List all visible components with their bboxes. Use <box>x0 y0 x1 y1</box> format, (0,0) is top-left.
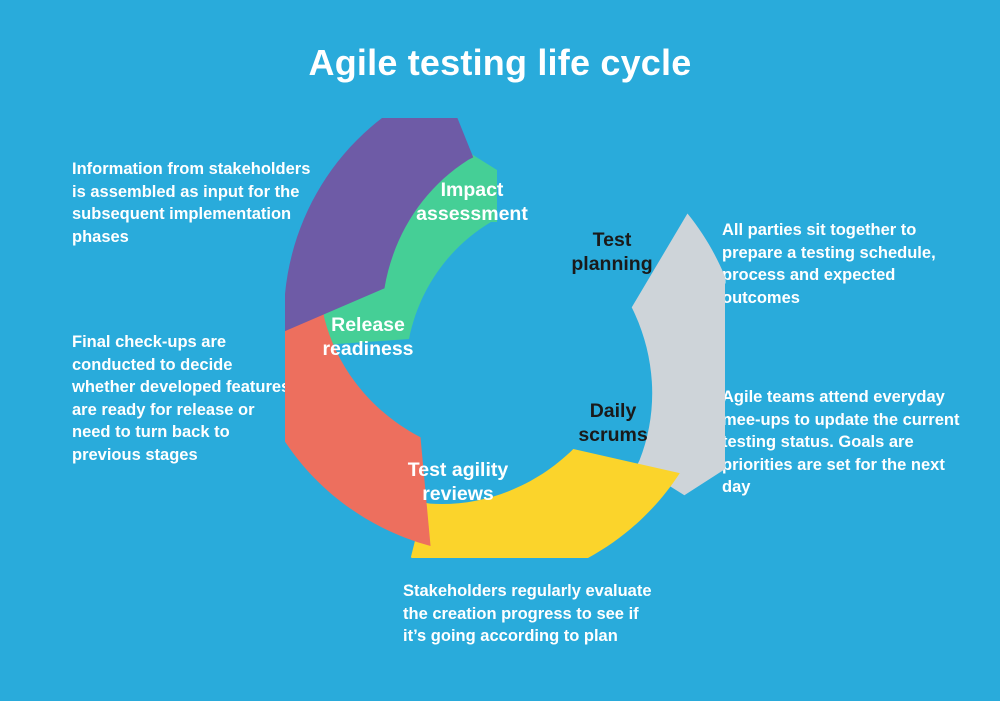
cycle-diagram: Impact assessment Test planning Daily sc… <box>285 118 725 558</box>
description-daily-scrums: Agile teams attend everyday mee-ups to u… <box>722 386 972 499</box>
description-impact-assessment: Information from stakeholders is assembl… <box>72 158 317 248</box>
description-test-planning: All parties sit together to prepare a te… <box>722 219 970 309</box>
description-release-readiness: Final check-ups are conducted to decide … <box>72 331 294 467</box>
page-title: Agile testing life cycle <box>0 42 1000 84</box>
description-test-agility-reviews: Stakeholders regularly evaluate the crea… <box>403 580 653 648</box>
